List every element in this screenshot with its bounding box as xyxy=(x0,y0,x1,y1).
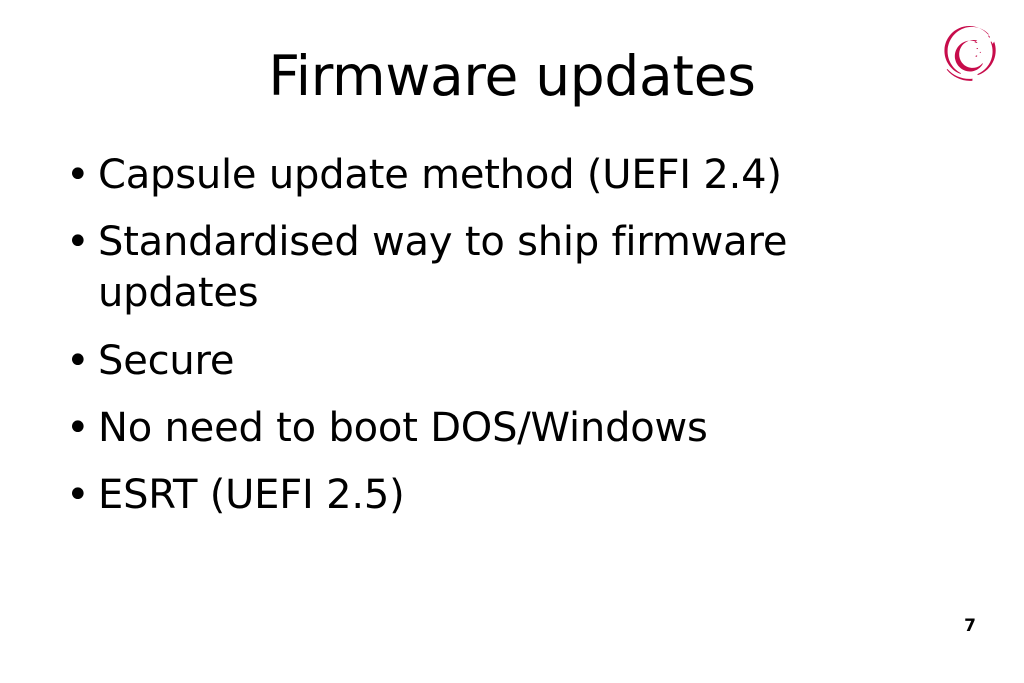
bullet-marker-icon: • xyxy=(66,217,89,268)
page-number: 7 xyxy=(950,616,990,636)
debian-swirl-logo xyxy=(932,14,1004,92)
presentation-slide: Firmware updates • Capsule update method… xyxy=(0,0,1024,683)
list-item: • Capsule update method (UEFI 2.4) xyxy=(58,150,938,201)
list-item: • No need to boot DOS/Windows xyxy=(58,403,938,454)
bullet-list: • Capsule update method (UEFI 2.4) • Sta… xyxy=(58,150,938,521)
bullet-marker-icon: • xyxy=(66,403,89,454)
bullet-marker-icon: • xyxy=(66,336,89,387)
list-item: • Standardised way to ship firmware upda… xyxy=(58,217,938,319)
bullet-marker-icon: • xyxy=(66,150,89,201)
list-item-label: Standardised way to ship firmware update… xyxy=(98,217,858,319)
list-item-label: Capsule update method (UEFI 2.4) xyxy=(98,150,858,201)
bullet-marker-icon: • xyxy=(66,470,89,521)
list-item: • ESRT (UEFI 2.5) xyxy=(58,470,938,521)
list-item-label: ESRT (UEFI 2.5) xyxy=(98,470,858,521)
list-item-label: No need to boot DOS/Windows xyxy=(98,403,858,454)
list-item: • Secure xyxy=(58,336,938,387)
page-title: Firmware updates xyxy=(0,46,1024,107)
list-item-label: Secure xyxy=(98,336,858,387)
